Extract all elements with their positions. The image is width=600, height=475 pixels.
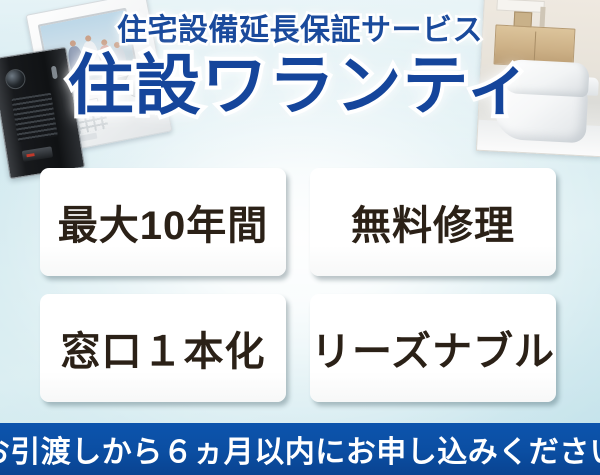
doorbell-button [22,146,53,162]
application-deadline-text: お引渡しから６ヵ月以内にお申し込みください [0,427,600,471]
promo-banner: 住宅設備延長保証サービス 住設ワランティ 最大10年間 無料修理 窓口１本化 リ… [0,0,600,475]
feature-box-single-contact: 窓口１本化 [40,294,286,402]
feature-box-coverage-period: 最大10年間 [40,168,286,276]
feature-box-reasonable-price: リーズナブル [310,294,556,402]
toilet-photo [476,0,600,157]
shelf-vase-item [540,7,546,27]
feature-label: 最大10年間 [58,193,269,251]
feature-label: リーズナブル [311,319,555,377]
feature-label: 窓口１本化 [61,319,266,377]
status-led-icon [51,66,58,80]
speaker-grille [11,93,57,143]
feature-box-free-repair: 無料修理 [310,168,556,276]
toilet-lid [502,59,590,97]
feature-box-grid: 最大10年間 無料修理 窓口１本化 リーズナブル [40,168,556,402]
camera-lens-icon [4,68,27,91]
feature-label: 無料修理 [351,193,515,251]
application-deadline-bar: お引渡しから６ヵ月以内にお申し込みください [0,423,600,475]
